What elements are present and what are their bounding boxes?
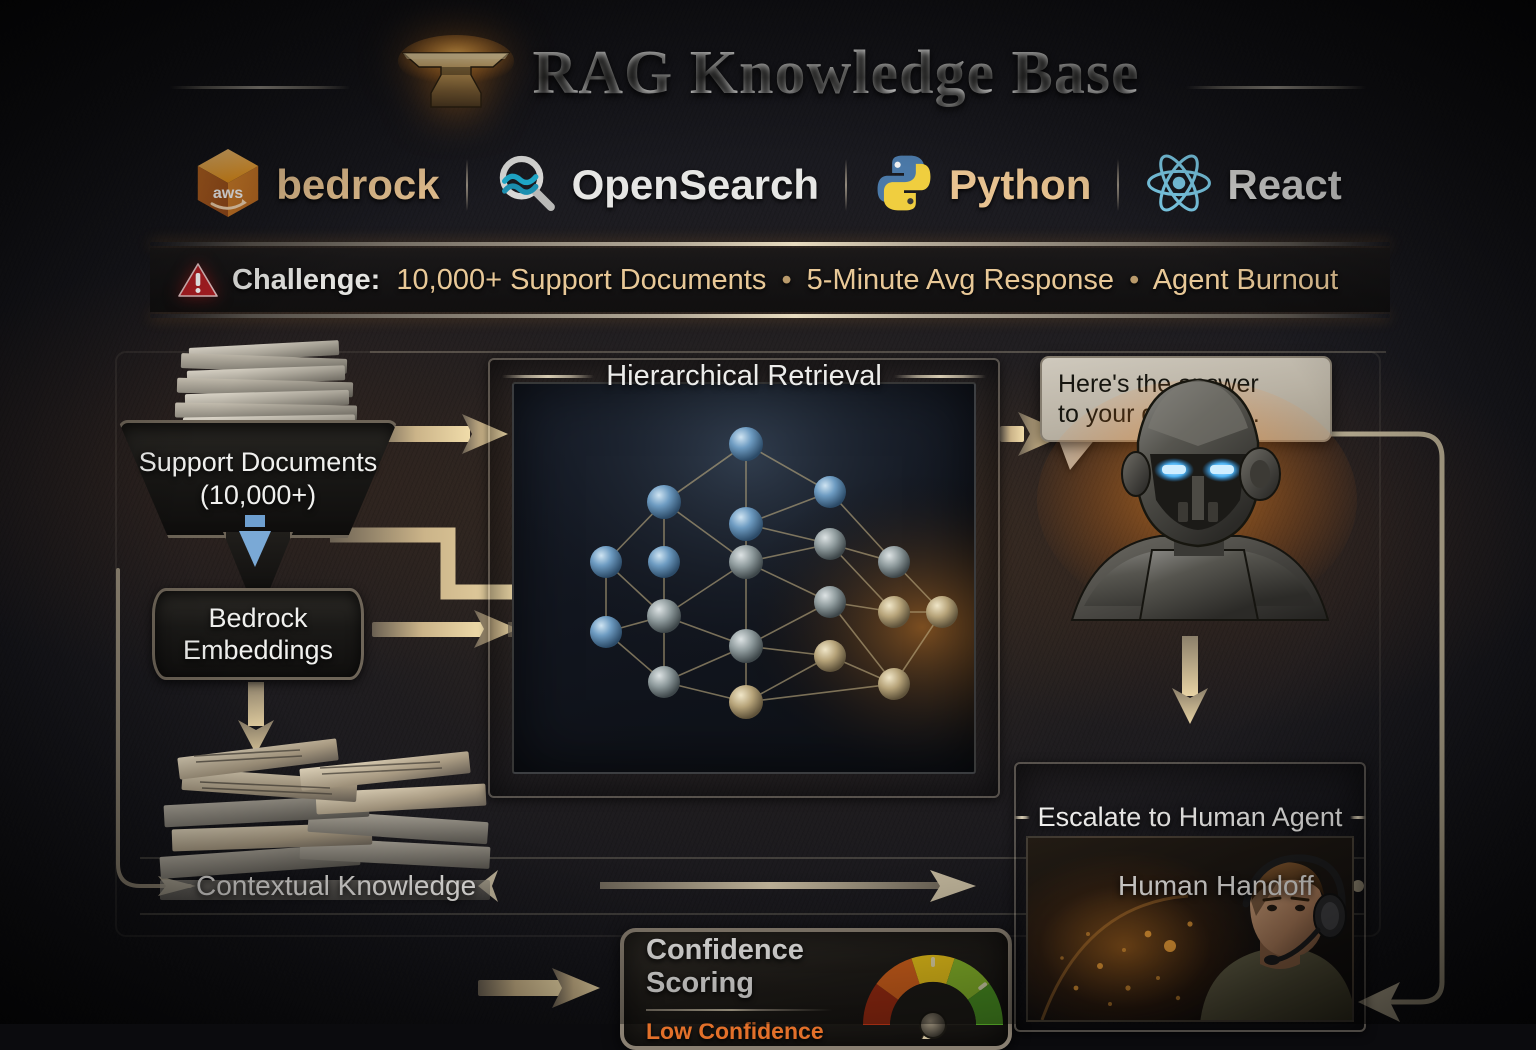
tech-stack-label-python: Python xyxy=(949,161,1091,209)
escalate-title: Escalate to Human Agent xyxy=(1038,802,1343,833)
opensearch-icon xyxy=(494,151,558,220)
bedrock-embeddings-node: Bedrock Embeddings xyxy=(152,588,364,680)
armored-robot-icon xyxy=(1032,350,1362,630)
aws-bedrock-icon: aws xyxy=(194,147,262,224)
retrieval-title-row: Hierarchical Retrieval xyxy=(488,360,1000,393)
header-rule-right xyxy=(1186,86,1366,89)
anvil-icon xyxy=(397,31,515,115)
tech-stack-separator-2 xyxy=(845,159,847,211)
challenge-item-2: Agent Burnout xyxy=(1153,264,1338,296)
python-icon xyxy=(873,152,935,219)
tech-stack-label-react: React xyxy=(1227,161,1341,209)
tech-stack-item-react[interactable]: React xyxy=(1119,152,1367,219)
tech-stack-label-bedrock: bedrock xyxy=(276,161,439,209)
retrieval-rule-left xyxy=(502,375,594,378)
gauge-icon xyxy=(858,939,1008,1039)
contextual-knowledge-label: Contextual Knowledge xyxy=(196,870,476,902)
challenge-label: Challenge: xyxy=(232,264,380,296)
challenge-sep-1: • xyxy=(1122,264,1146,296)
challenge-rule-bottom xyxy=(150,314,1390,318)
challenge-sep-0: • xyxy=(774,264,798,296)
tech-stack-item-python[interactable]: Python xyxy=(847,152,1117,219)
page-title: RAG Knowledge Base xyxy=(533,38,1140,109)
headset-agent-icon xyxy=(1026,836,1354,1022)
confidence-scoring-card: Confidence Scoring Low Confidence xyxy=(620,928,1012,1050)
embeddings-label-line1: Bedrock xyxy=(183,602,333,634)
human-handoff-label: Human Handoff xyxy=(1118,870,1314,902)
tech-stack-item-bedrock[interactable]: aws bedrock xyxy=(168,147,465,224)
svg-text:aws: aws xyxy=(213,184,243,202)
tech-stack-row: aws bedrock OpenSearch xyxy=(0,140,1536,230)
header-rule-left xyxy=(170,86,350,89)
arrow-pile-to-confidence xyxy=(478,968,600,1008)
funnel-label-line2: (10,000+) xyxy=(118,479,398,512)
challenge-item-1: 5-Minute Avg Response xyxy=(807,264,1114,296)
blue-down-arrow-icon xyxy=(238,515,272,569)
challenge-rule-top xyxy=(150,242,1390,246)
escalate-title-row: Escalate to Human Agent xyxy=(1014,802,1366,833)
confidence-divider xyxy=(646,1009,832,1011)
confidence-title: Confidence Scoring xyxy=(646,934,856,1000)
escalate-rule-right xyxy=(1350,816,1366,819)
funnel-label-line1: Support Documents xyxy=(118,446,398,479)
funnel-label: Support Documents (10,000+) xyxy=(118,446,398,512)
challenge-item-0: 10,000+ Support Documents xyxy=(396,264,766,296)
neural-network-icon xyxy=(512,382,976,774)
retrieval-rule-right xyxy=(894,375,986,378)
retrieval-title: Hierarchical Retrieval xyxy=(606,360,882,393)
tech-stack-label-opensearch: OpenSearch xyxy=(572,161,819,209)
arrow-robot-to-escalate xyxy=(1172,636,1208,724)
tech-stack-separator-1 xyxy=(466,159,468,211)
confidence-status-badge: Low Confidence xyxy=(646,1018,856,1045)
warning-triangle-icon xyxy=(178,262,218,298)
tech-stack-item-opensearch[interactable]: OpenSearch xyxy=(468,151,845,220)
react-icon xyxy=(1145,152,1213,219)
tech-stack-separator-3 xyxy=(1117,159,1119,211)
challenge-bar: Challenge: 10,000+ Support Documents • 5… xyxy=(150,236,1390,322)
challenge-text: Challenge: 10,000+ Support Documents • 5… xyxy=(232,264,1338,297)
embeddings-label-line2: Embeddings xyxy=(183,634,333,666)
workflow-diagram: Support Documents (10,000+) Bedrock Embe… xyxy=(0,330,1536,1024)
poster-header: RAG Knowledge Base xyxy=(0,18,1536,128)
escalate-rule-left xyxy=(1014,816,1030,819)
